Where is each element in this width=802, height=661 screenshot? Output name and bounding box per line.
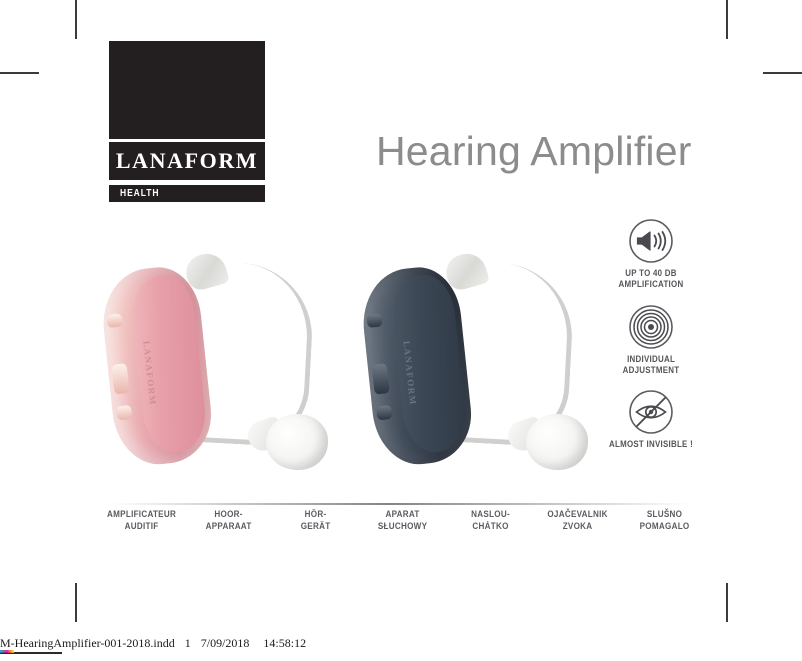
slug-page-number: 1 (185, 636, 191, 650)
language-line1: SLUŠNO (625, 508, 703, 520)
crop-mark-top-right-vertical (726, 0, 728, 39)
brand-tagline-badge: HEALTH (109, 185, 265, 202)
device-button-volume-down (116, 405, 132, 420)
ear-dome (266, 414, 328, 470)
feature-label: INDIVIDUAL ADJUSTMENT (603, 354, 700, 377)
language-item-nl: HOOR- APPARAAT (185, 508, 272, 532)
print-slug: M-HearingAmplifier-001-2018.indd17/09/20… (0, 636, 306, 651)
feature-label-line1: ALMOST (609, 439, 644, 449)
language-line2: APPARAAT (189, 520, 267, 532)
page-title: Hearing Amplifier (376, 128, 692, 175)
ear-dome (526, 414, 588, 470)
device-faceplate (129, 272, 209, 456)
language-row: AMPLIFICATEUR AUDITIF HOOR- APPARAAT HÖR… (98, 508, 708, 532)
crop-mark-top-left-horizontal (0, 72, 39, 74)
feature-label-line1: INDIVIDUAL (627, 354, 675, 364)
language-line1: AMPLIFICATEUR (102, 508, 180, 520)
language-line2: POMAGALO (625, 520, 703, 532)
feature-label-line2: ADJUSTMENT (623, 365, 680, 375)
device-button-volume-up (366, 313, 382, 327)
product-image-dark: LANAFORM (358, 248, 608, 483)
feature-label: ALMOST INVISIBLE ! (603, 439, 700, 450)
logo-photo-placeholder (109, 41, 265, 139)
section-divider (76, 503, 726, 505)
brand-wordmark-text: LANAFORM (116, 150, 258, 172)
language-line2: GERÄT (277, 520, 355, 532)
language-item-pl: APARAT SŁUCHOWY (359, 508, 446, 532)
language-line2: CHÁTKO (451, 520, 529, 532)
language-item-de: HÖR- GERÄT (272, 508, 359, 532)
crop-mark-bottom-right-vertical (726, 583, 728, 622)
language-item-cs: NASLOU- CHÁTKO (447, 508, 534, 532)
device-button-volume-up (106, 313, 122, 327)
product-image-pink: LANAFORM (98, 248, 348, 483)
concentric-dial-icon (628, 304, 674, 350)
device-battery-door (112, 363, 130, 394)
language-line1: OJAČEVALNIK (538, 508, 616, 520)
speaker-waves-icon (628, 218, 674, 264)
language-item-fr: AMPLIFICATEUR AUDITIF (98, 508, 185, 532)
slug-time: 14:58:12 (263, 636, 306, 650)
brand-tagline-text: HEALTH (120, 189, 159, 199)
device-shell: LANAFORM (98, 263, 216, 468)
slug-filename: M-HearingAmplifier-001-2018.indd (0, 636, 175, 650)
print-artwork-page: LANAFORM HEALTH Hearing Amplifier LANAFO… (0, 0, 802, 661)
feature-label: UP TO 40 DB AMPLIFICATION (603, 268, 700, 291)
device-faceplate (389, 272, 469, 456)
device-battery-door (372, 363, 390, 394)
language-line1: HOOR- (189, 508, 267, 520)
language-item-sl: OJAČEVALNIK ZVOKA (534, 508, 621, 532)
brand-wordmark: LANAFORM (109, 142, 265, 180)
brand-logo-block: LANAFORM HEALTH (109, 41, 265, 202)
language-line2: AUDITIF (102, 520, 180, 532)
language-item-hr: SLUŠNO POMAGALO (621, 508, 708, 532)
eye-slash-icon (628, 389, 674, 435)
registration-color-bar (0, 650, 14, 653)
feature-label-line1: UP TO 40 DB (625, 268, 676, 278)
feature-adjustment: INDIVIDUAL ADJUSTMENT (596, 304, 706, 377)
crop-mark-top-right-horizontal (763, 72, 802, 74)
artboard: LANAFORM HEALTH Hearing Amplifier LANAFO… (76, 0, 726, 622)
feature-label-line2: INVISIBLE ! (647, 439, 693, 449)
language-line1: APARAT (364, 508, 442, 520)
language-line1: HÖR- (277, 508, 355, 520)
device-button-volume-down (376, 405, 392, 420)
slug-date: 7/09/2018 (201, 636, 250, 650)
feature-label-line2: AMPLIFICATION (619, 279, 684, 289)
device-shell: LANAFORM (358, 263, 476, 468)
feature-amplification: UP TO 40 DB AMPLIFICATION (596, 218, 706, 291)
language-line1: NASLOU- (451, 508, 529, 520)
language-line2: SŁUCHOWY (364, 520, 442, 532)
feature-list: UP TO 40 DB AMPLIFICATION INDIVIDUAL ADJ… (596, 218, 706, 463)
feature-invisible: ALMOST INVISIBLE ! (596, 389, 706, 450)
language-line2: ZVOKA (538, 520, 616, 532)
